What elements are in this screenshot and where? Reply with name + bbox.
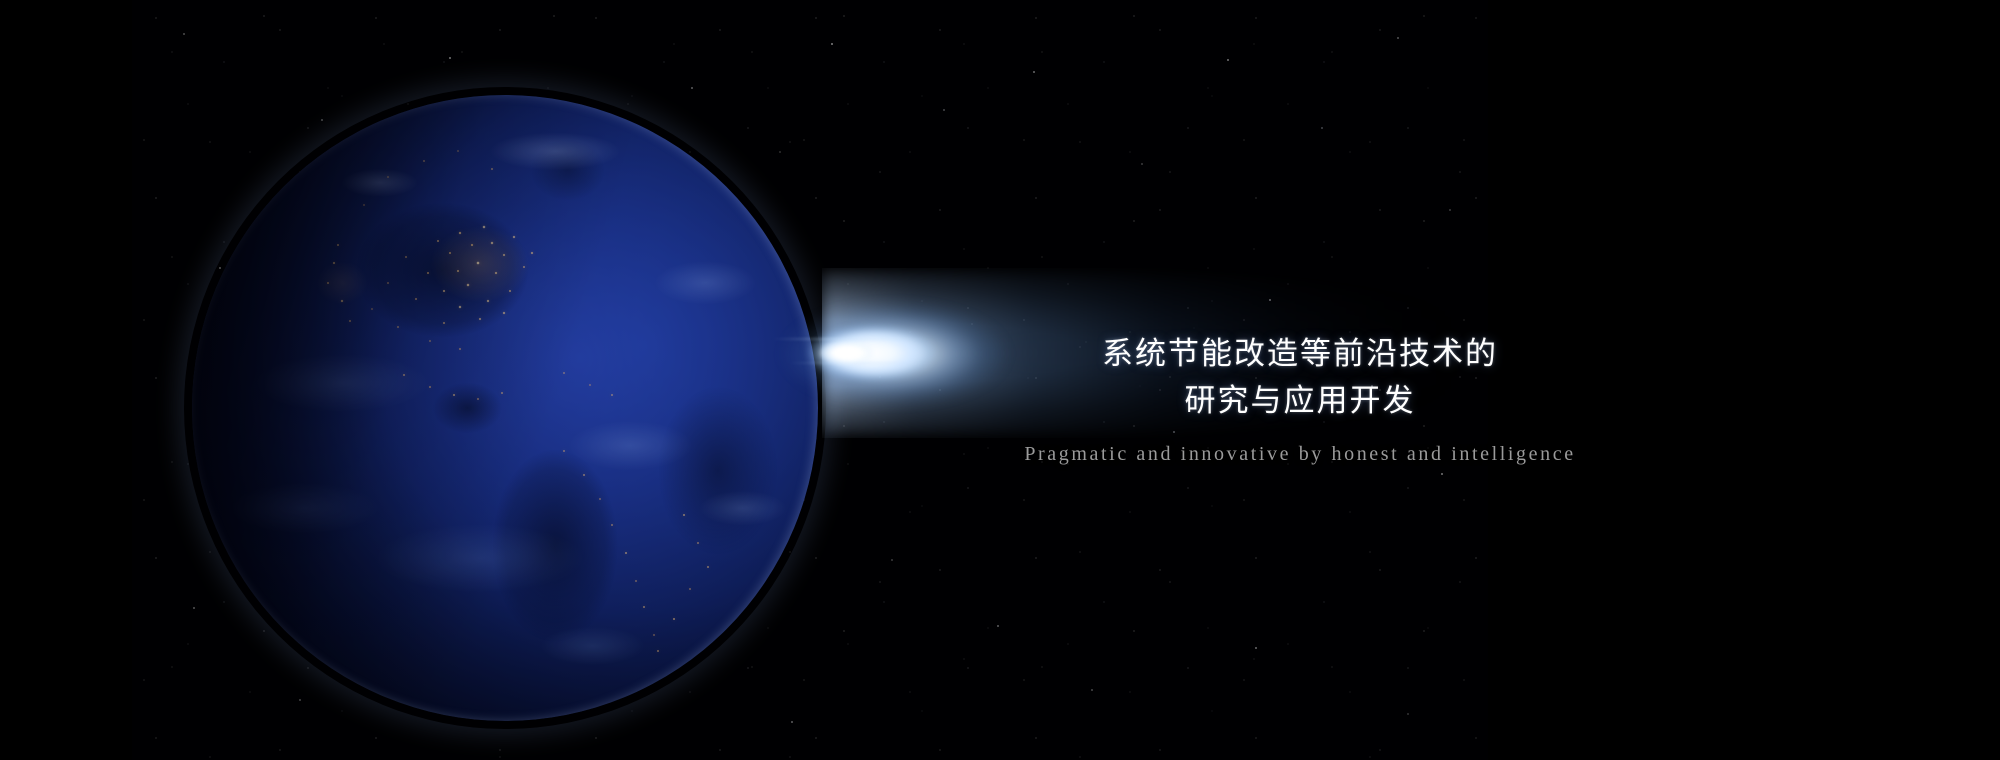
hero-banner: 系统节能改造等前沿技术的 研究与应用开发 Pragmatic and innov… (0, 0, 2000, 760)
headline-line-1: 系统节能改造等前沿技术的 (940, 330, 1660, 377)
hero-tagline: Pragmatic and innovative by honest and i… (940, 441, 1660, 467)
comet-core (806, 324, 938, 382)
comet-nucleus (818, 340, 876, 366)
earth-cloud-layer (192, 95, 818, 721)
hero-copy-block: 系统节能改造等前沿技术的 研究与应用开发 Pragmatic and innov… (940, 330, 1660, 467)
earth-globe (192, 95, 818, 721)
left-letterbox-margin (0, 0, 132, 760)
headline-line-2: 研究与应用开发 (940, 377, 1660, 424)
